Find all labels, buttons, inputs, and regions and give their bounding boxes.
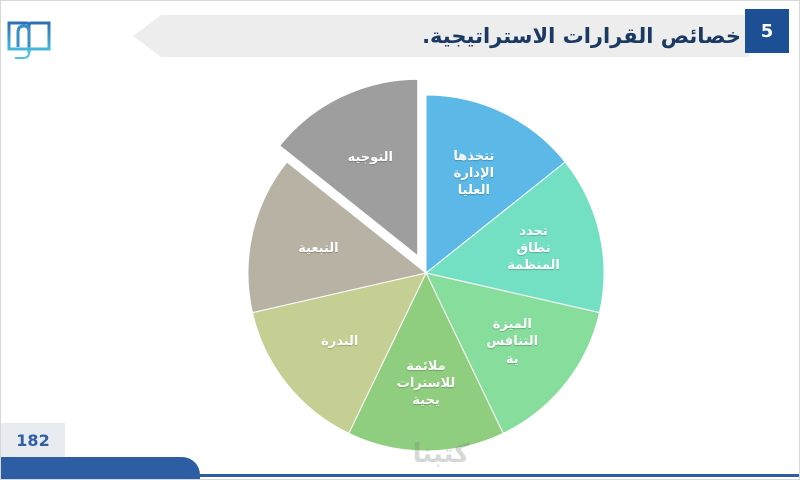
footer-rule [199,474,799,477]
pie-chart-svg [226,79,626,471]
slide-canvas: خصائص القرارات الاستراتيجية. 5 تتخذهاالإ… [0,0,800,480]
open-book-logo [5,15,53,61]
page-number: 182 [1,423,65,457]
watermark: كتبنا [331,437,551,471]
footer-bar [0,457,200,480]
pie-chart: تتخذهاالإدارةالعلياتحددنطاقالمنظمةالميزة… [226,79,626,471]
page-title: خصائص القرارات الاستراتيجية. [181,15,741,57]
slide-number-badge: 5 [745,9,789,53]
